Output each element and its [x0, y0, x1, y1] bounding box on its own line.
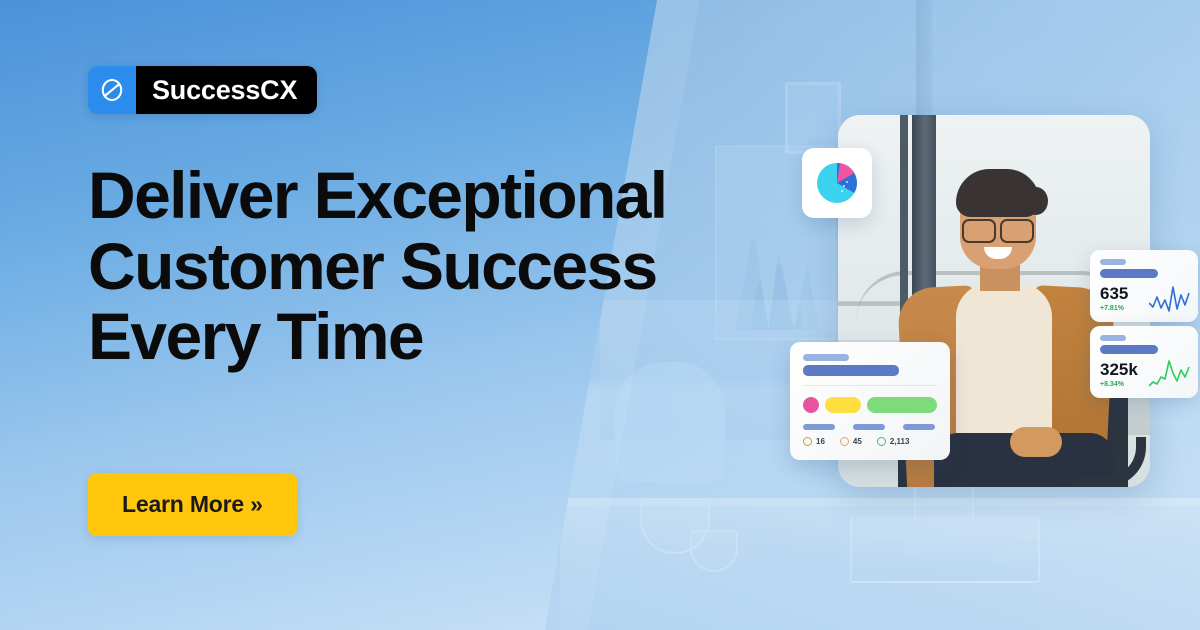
pill-dot-pink — [803, 397, 819, 413]
skeleton-bar-short — [1100, 335, 1126, 341]
legend-bar — [903, 424, 935, 430]
skeleton-bar-short — [1100, 259, 1126, 265]
metric-item: 16 — [803, 437, 825, 446]
headline-line-1: Deliver Exceptional — [88, 158, 667, 232]
legend-skeleton-bars — [803, 424, 937, 430]
headline-line-3: Every Time — [88, 299, 423, 373]
skeleton-bar-long — [1100, 269, 1158, 278]
pie-chart-widget — [802, 148, 872, 218]
pie-chart-icon — [814, 160, 860, 206]
legend-bar — [853, 424, 885, 430]
metric-value: 45 — [853, 437, 862, 446]
divider — [803, 385, 937, 386]
pill-green — [867, 397, 937, 413]
pill-yellow — [825, 397, 861, 413]
skeleton-bar-long — [1100, 345, 1158, 354]
sparkline-icon — [1149, 355, 1191, 389]
circle-icon — [840, 437, 849, 446]
page-title: Deliver Exceptional Customer Success Eve… — [88, 160, 768, 372]
circle-icon — [803, 437, 812, 446]
metric-values: 16 45 2,113 — [803, 437, 937, 446]
metric-item: 45 — [840, 437, 862, 446]
glasses-icon — [962, 219, 1034, 239]
metric-value: 16 — [816, 437, 825, 446]
brand-logo[interactable]: SuccessCX — [88, 66, 317, 114]
dashboard-widget: 16 45 2,113 — [790, 342, 950, 460]
hair-bun — [1024, 187, 1048, 215]
stat-card-635: 635 +7.81% — [1090, 250, 1198, 322]
promo-banner: SuccessCX Deliver Exceptional Customer S… — [0, 0, 1200, 630]
sparkline-icon — [1149, 279, 1191, 313]
hands — [1010, 427, 1062, 457]
circle-slash-icon — [88, 66, 136, 114]
metric-value: 2,113 — [890, 437, 910, 446]
stat-card-325k: 325k +8.34% — [1090, 326, 1198, 398]
skeleton-bar-long — [803, 365, 899, 376]
pill-row — [803, 397, 937, 413]
brand-name: SuccessCX — [136, 66, 317, 114]
legend-bar — [803, 424, 835, 430]
learn-more-button[interactable]: Learn More » — [88, 473, 297, 536]
skeleton-bar-short — [803, 354, 849, 361]
circle-icon — [877, 437, 886, 446]
metric-item: 2,113 — [877, 437, 910, 446]
shirt — [956, 283, 1052, 448]
headline-line-2: Customer Success — [88, 229, 657, 303]
